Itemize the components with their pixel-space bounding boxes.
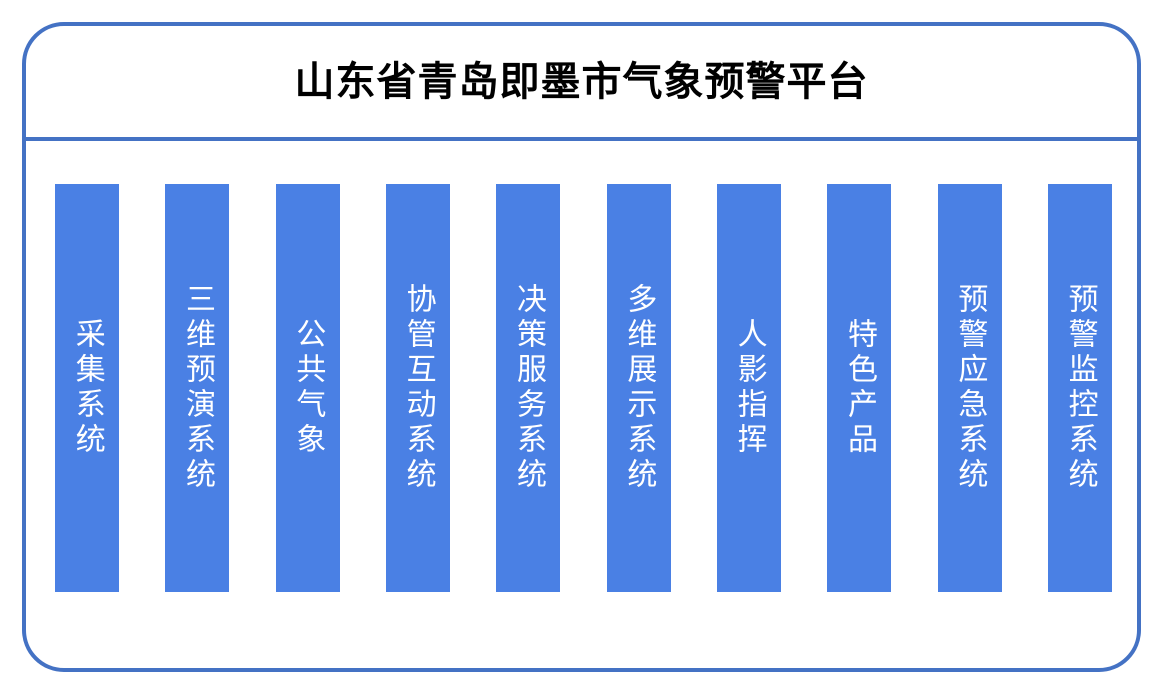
module-label: 采集系统 [69,318,104,458]
module-label: 特色产品 [842,318,877,458]
platform-frame: 山东省青岛即墨市气象预警平台 采集系统 三维预演系统 公共气象 协管互动系统 决… [22,22,1141,672]
module-bar-multidimensional-display[interactable]: 多维展示系统 [607,184,671,592]
module-bar-specialty-products[interactable]: 特色产品 [827,184,891,592]
module-label: 决策服务系统 [511,283,546,493]
module-bar-warning-monitoring[interactable]: 预警监控系统 [1048,184,1112,592]
module-label: 三维预演系统 [180,283,215,493]
module-bars-row: 采集系统 三维预演系统 公共气象 协管互动系统 决策服务系统 多维展示系统 人影… [55,184,1112,592]
modules-area: 采集系统 三维预演系统 公共气象 协管互动系统 决策服务系统 多维展示系统 人影… [26,141,1137,668]
platform-title-bar: 山东省青岛即墨市气象预警平台 [26,26,1137,137]
module-bar-coordination-interaction[interactable]: 协管互动系统 [386,184,450,592]
module-label: 人影指挥 [731,318,766,458]
module-label: 预警监控系统 [1062,283,1097,493]
page-title: 山东省青岛即墨市气象预警平台 [295,60,869,104]
module-bar-weather-modification-command[interactable]: 人影指挥 [717,184,781,592]
module-bar-collection[interactable]: 采集系统 [55,184,119,592]
module-bar-decision-service[interactable]: 决策服务系统 [496,184,560,592]
module-label: 多维展示系统 [621,283,656,493]
module-bar-warning-emergency[interactable]: 预警应急系统 [938,184,1002,592]
module-bar-public-meteorology[interactable]: 公共气象 [276,184,340,592]
module-label: 预警应急系统 [952,283,987,493]
module-label: 公共气象 [290,318,325,458]
module-label: 协管互动系统 [400,283,435,493]
module-bar-3d-rehearsal[interactable]: 三维预演系统 [165,184,229,592]
